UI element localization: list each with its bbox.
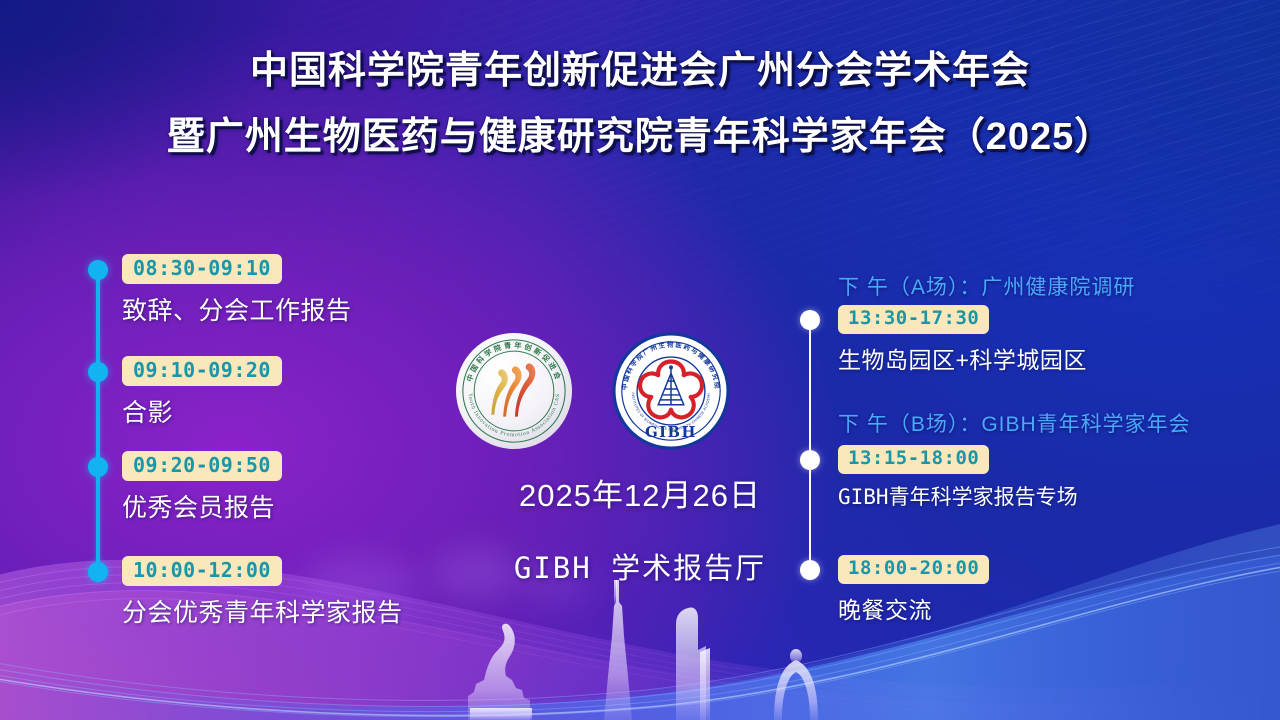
gibh-acronym: GIBH [645, 424, 697, 441]
title-line-2: 暨广州生物医药与健康研究院青年科学家年会（2025） [0, 118, 1280, 156]
event-details: 2025年12月26日 GIBH 学术报告厅 [0, 470, 1280, 587]
event-venue: GIBH 学术报告厅 [0, 545, 1280, 587]
session-b-header: 下 午（B场）：GIBH青年科学家年会 [838, 408, 1191, 438]
ctf-finance-centre-icon [676, 607, 710, 720]
title-line-1: 中国科学院青年创新促进会广州分会学术年会 [0, 52, 1280, 90]
timeline-dot [88, 260, 108, 280]
schedule-description: 致辞、分会工作报告 [122, 291, 352, 327]
event-date: 2025年12月26日 [0, 470, 1280, 515]
time-badge: 08:30-09:10 [122, 254, 282, 284]
session-a-header: 下 午（A场）：广州健康院调研 [838, 271, 1135, 301]
schedule-item: 13:30-17:30 生物岛园区+科学城园区 [838, 305, 1087, 375]
schedule-description: 生物岛园区+科学城园区 [838, 341, 1087, 375]
organizer-logos: 中国科学院青年创新促进会 Youth Innovation Promotion … [455, 332, 745, 450]
time-badge: 09:10-09:20 [122, 356, 282, 386]
schedule-description: 晚餐交流 [838, 591, 989, 625]
timeline-dot [88, 362, 108, 382]
arch-monument-icon [774, 649, 818, 720]
schedule-item: 08:30-09:10 致辞、分会工作报告 [122, 254, 352, 327]
schedule-description: 合影 [122, 393, 282, 429]
timeline-dot [800, 450, 820, 470]
schedule-description: 分会优秀青年科学家报告 [122, 593, 403, 629]
time-badge: 13:30-17:30 [838, 305, 989, 334]
canton-tower-icon [604, 580, 632, 720]
youth-innovation-promotion-association-logo: 中国科学院青年创新促进会 Youth Innovation Promotion … [455, 332, 573, 450]
timeline-dot [800, 310, 820, 330]
poster-title: 中国科学院青年创新促进会广州分会学术年会 暨广州生物医药与健康研究院青年科学家年… [0, 52, 1280, 156]
gibh-logo: 中国科学院广州生物医药与健康研究院 GUANGZHOU INSTITUTES O… [612, 332, 730, 450]
five-rams-statue-icon [468, 624, 532, 720]
conference-poster: 中国科学院青年创新促进会广州分会学术年会 暨广州生物医药与健康研究院青年科学家年… [0, 0, 1280, 720]
schedule-item: 09:10-09:20 合影 [122, 356, 282, 429]
